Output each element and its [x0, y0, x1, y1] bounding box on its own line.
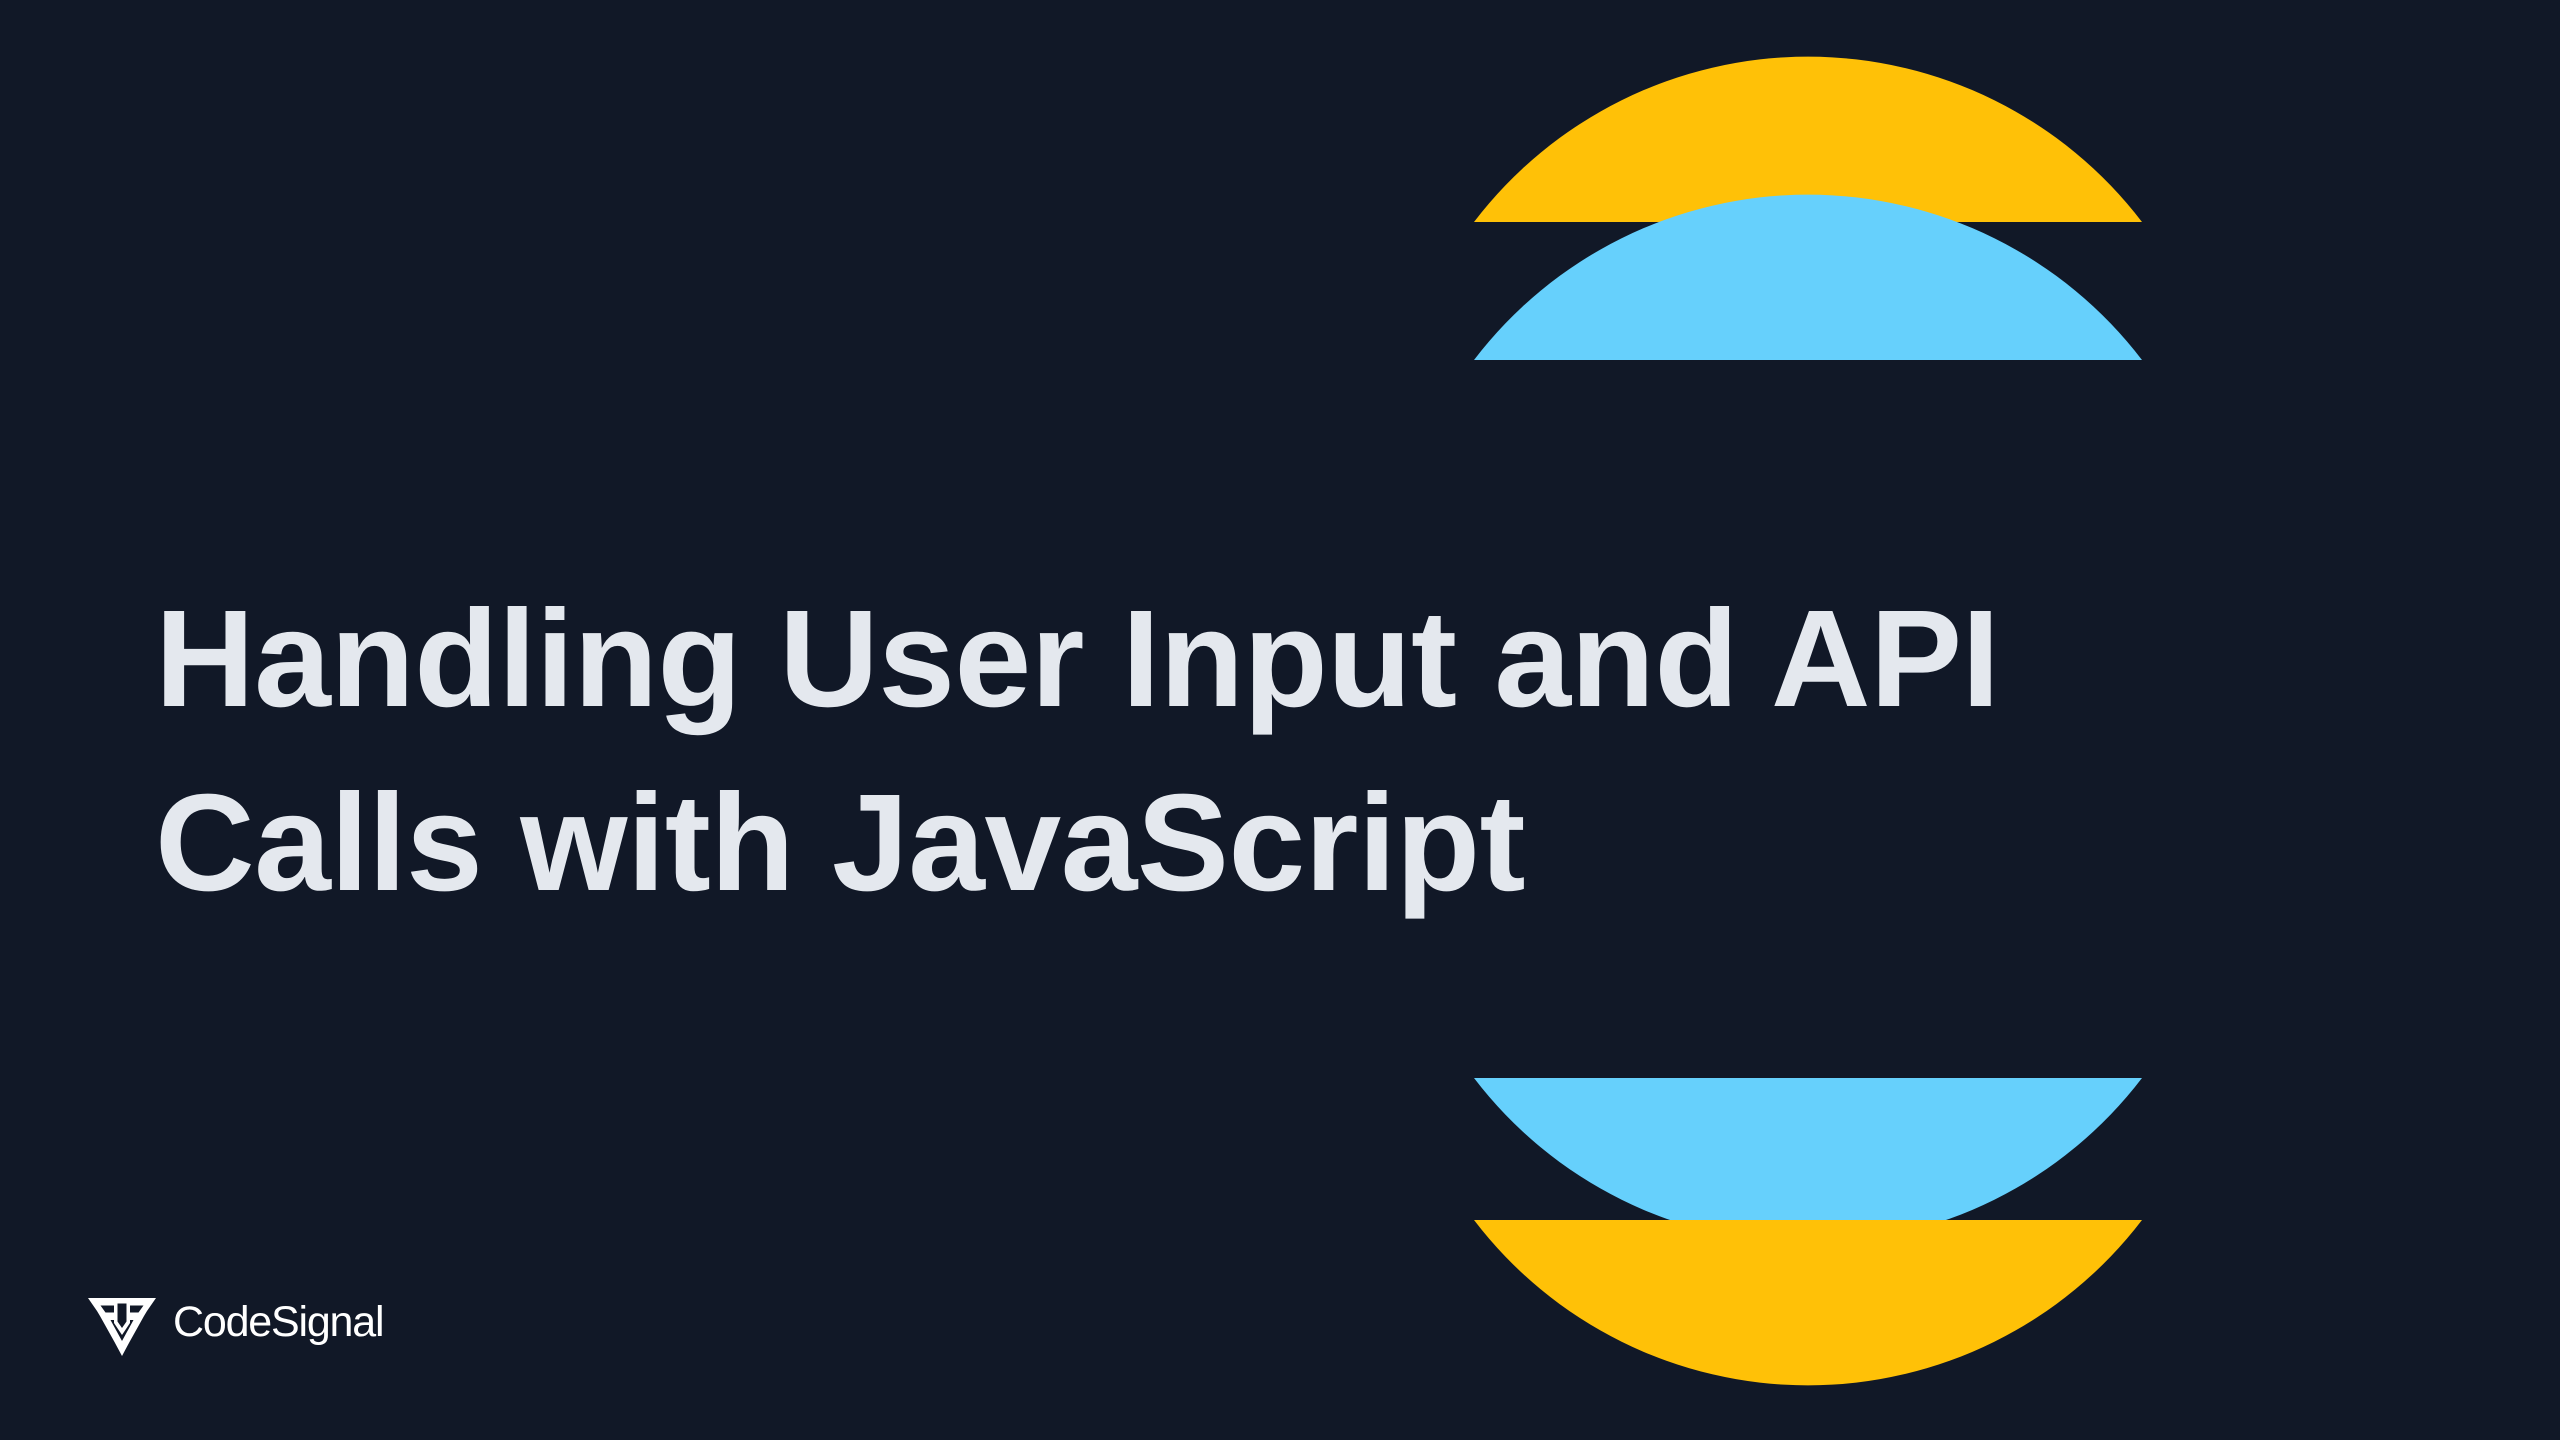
title-block: Handling User Input and API Calls with J… — [155, 568, 2275, 935]
arc-cluster-top — [1474, 85, 2142, 360]
title-slide: Handling User Input and API Calls with J… — [0, 0, 2560, 1440]
page-title: Handling User Input and API Calls with J… — [155, 568, 2275, 935]
blue-bowl-shape — [1474, 1078, 2142, 1243]
arc-cluster-bottom — [1474, 1078, 2142, 1360]
brand-logo: CodeSignal CodeSignal — [88, 1290, 441, 1356]
yellow-bowl-shape — [1474, 1220, 2142, 1385]
svg-text:CodeSignal: CodeSignal — [173, 1299, 383, 1346]
codesignal-falcon-mark-icon — [88, 1290, 156, 1356]
codesignal-wordmark: CodeSignal — [173, 1299, 441, 1347]
